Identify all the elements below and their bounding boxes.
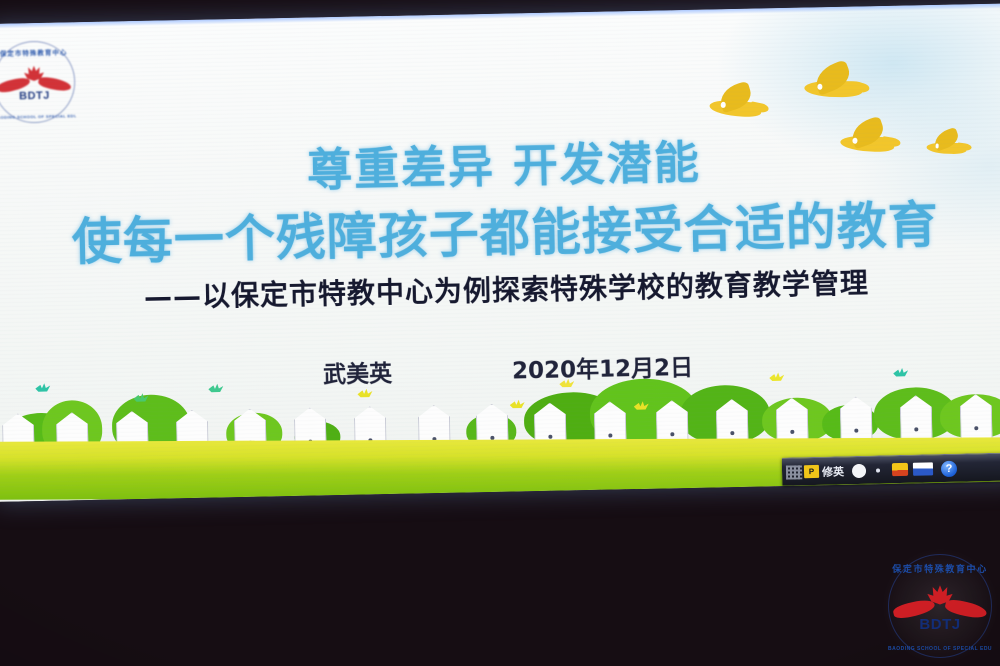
logo-chinese-ring-text: 保定市特殊教育中心	[888, 562, 992, 575]
display-icon[interactable]	[913, 462, 933, 475]
picket-dot	[730, 431, 734, 435]
bird-icon-1	[708, 85, 763, 125]
powerpoint-icon[interactable]: P	[804, 465, 819, 478]
logo-acronym: BDTJ	[888, 616, 992, 633]
projection-screen: 保定市特殊教育中心 BDTJ BAODING SCHOOL OF SPECIAL…	[0, 3, 1000, 502]
fence-picket	[900, 395, 933, 442]
picket-dot	[548, 435, 552, 439]
fence-picket	[776, 398, 809, 445]
window-title-text: 修英	[822, 463, 844, 479]
picket-dot	[854, 429, 858, 433]
record-indicator-icon[interactable]	[852, 463, 866, 477]
school-logo-watermark: 保定市特殊教育中心 BDTJ BAODING SCHOOL OF SPECIAL…	[888, 554, 992, 658]
logo-acronym: BDTJ	[0, 89, 76, 103]
logo-chinese-ring-text: 保定市特殊教育中心	[0, 46, 75, 58]
bird-eye	[817, 83, 822, 89]
picket-dot	[974, 426, 978, 430]
application-title-bar[interactable]: P 修英 ?	[782, 452, 1000, 485]
media-icon[interactable]	[892, 463, 908, 476]
fence-picket	[960, 394, 993, 441]
logo-english-ring-text: BAODING SCHOOL OF SPECIAL EDUCATION CENT…	[888, 646, 992, 652]
picket-dot	[670, 432, 674, 436]
fence-picket	[840, 396, 873, 443]
picket-dot	[914, 427, 918, 431]
picket-dot	[608, 434, 612, 438]
picket-dot	[790, 430, 794, 434]
projected-presentation-photo: 保定市特殊教育中心 BDTJ BAODING SCHOOL OF SPECIAL…	[0, 0, 1000, 666]
status-dot-icon	[876, 468, 880, 472]
help-button[interactable]: ?	[941, 460, 957, 476]
grid-icon	[786, 465, 802, 479]
bird-icon-2	[804, 67, 863, 106]
